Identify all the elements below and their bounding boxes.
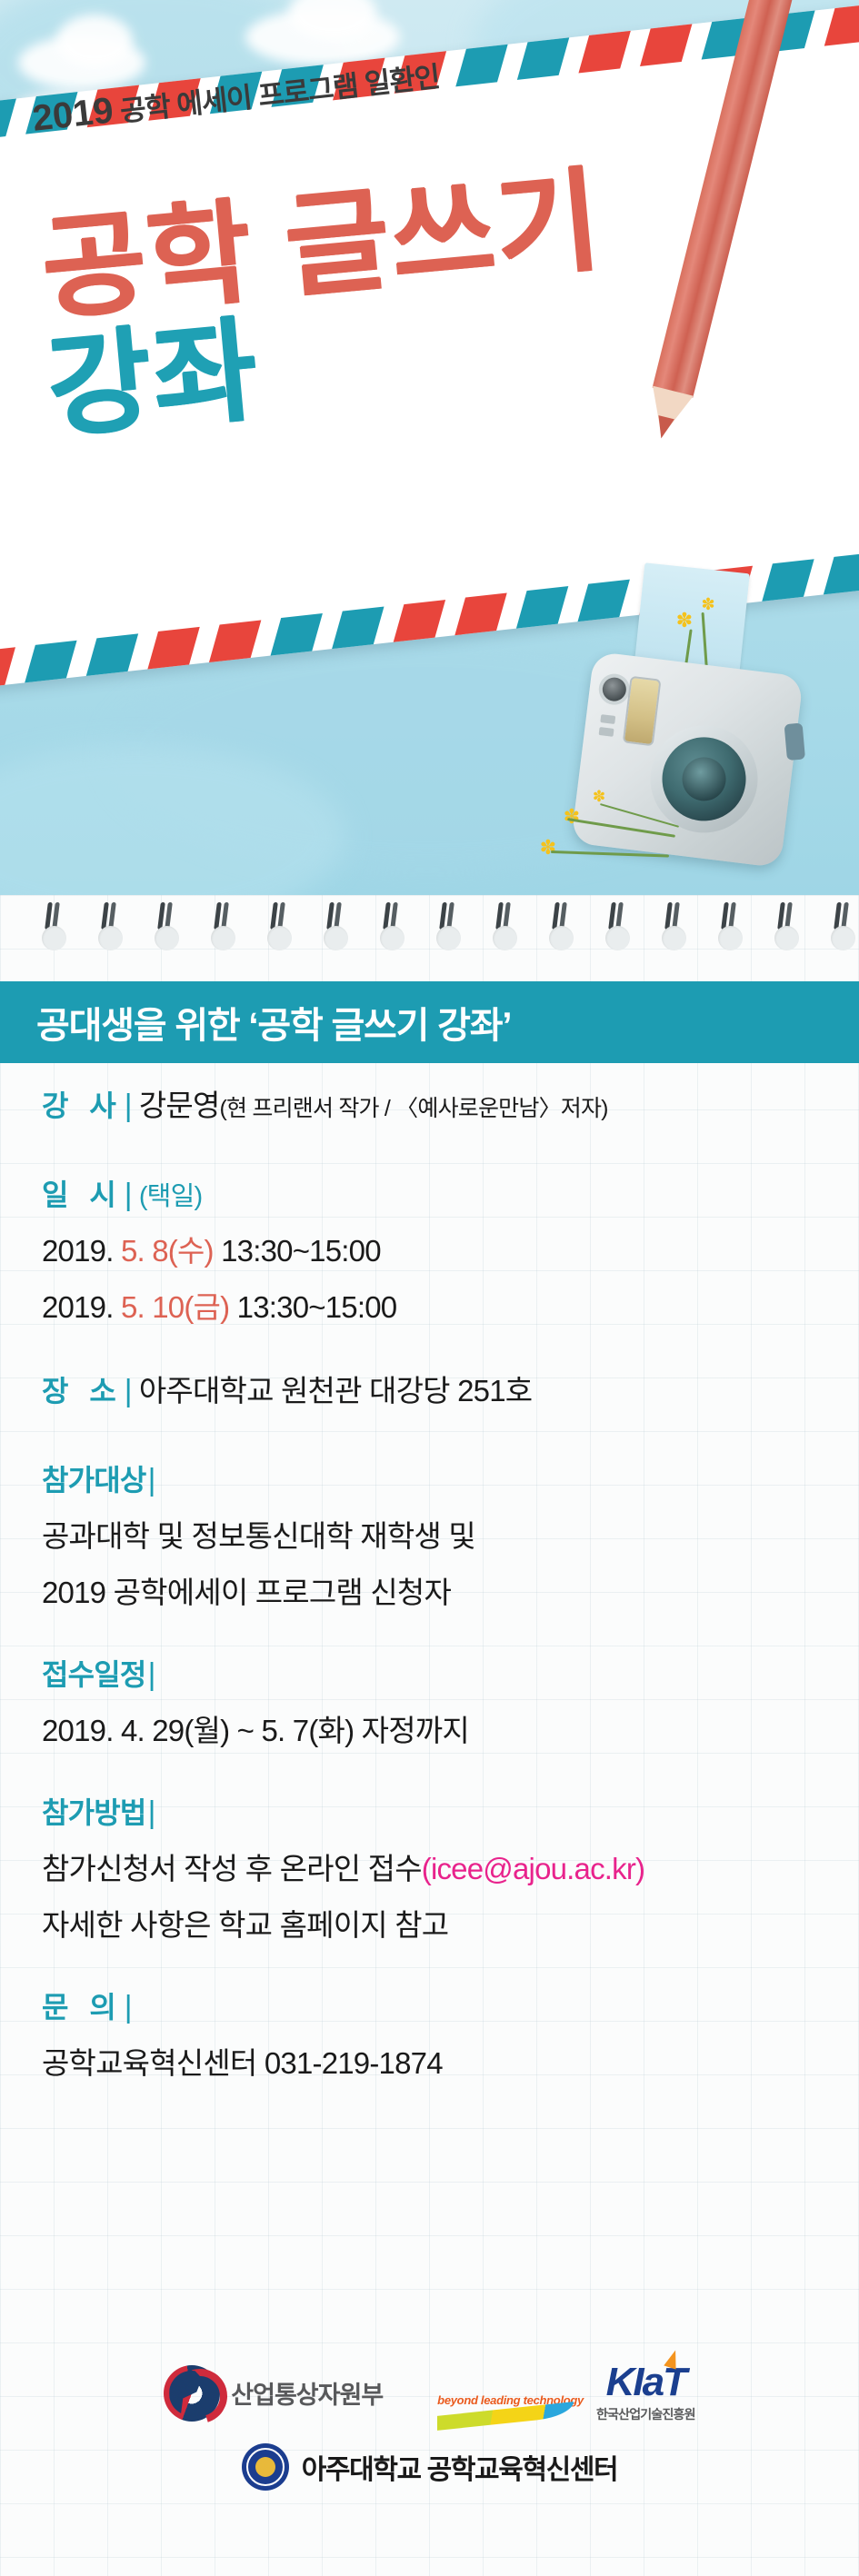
divider: | [148,1657,155,1692]
kiat-subtitle: 한국산업기술진흥원 [596,2405,695,2423]
divider: | [125,1374,132,1408]
divider: | [125,1178,132,1212]
cloud-icon [56,15,133,67]
place-label: 장 소 [42,1375,123,1407]
logo-ajou: 아주대학교 공학교육혁신센터 [0,2443,859,2491]
datetime-option-2: 2019. 5. 10(금) 13:30~15:00 [42,1283,859,1327]
datetime-note: (택일) [139,1182,202,1211]
method-line-1: 참가신청서 작성 후 온라인 접수 [42,1852,422,1885]
info-row-method: 참가방법| 참가신청서 작성 후 온라인 접수(icee@ajou.ac.kr)… [42,1790,859,1944]
divider: | [125,1089,132,1123]
contact-value: 공학교육혁신센터 031-219-1874 [42,2046,443,2080]
audience-line-1: 공과대학 및 정보통신대학 재학생 및 [42,1519,475,1553]
method-line-2: 자세한 사항은 학교 홈페이지 참고 [42,1908,448,1942]
divider: | [125,1990,132,2024]
page-title: 공대생을 위한 ‘공학 글쓰기 강좌’ [36,996,511,1049]
divider: | [148,1463,155,1497]
footer-logos: 산업통상자원부 beyond leading technology KIaT 한… [0,2362,859,2491]
datetime-year: 2019. [42,1290,121,1324]
flower-icon: ✽ [674,611,694,631]
motie-label: 산업통상자원부 [231,2375,383,2411]
flower-icon: ✽ [562,807,582,827]
ajou-label: 아주대학교 공학교육혁신센터 [302,2447,618,2487]
flower-icon: ✽ [698,594,718,614]
datetime-year: 2019. [42,1234,121,1268]
info-row-datetime: 일 시|(택일) 2019. 5. 8(수) 13:30~15:00 2019.… [42,1172,859,1327]
place-value: 아주대학교 원천관 대강당 251호 [139,1374,533,1407]
datetime-time: 13:30~15:00 [229,1290,396,1324]
info-list: 강 사|강문영(현 프리랜서 작가 / 〈예사로운만남〉저자) 일 시|(택일)… [0,1081,859,2083]
audience-label: 참가대상 [42,1464,146,1497]
datetime-date: 5. 8(수) [121,1234,214,1268]
instructor-detail: (현 프리랜서 작가 / 〈예사로운만남〉저자) [220,1096,608,1121]
flower-icon: ✽ [589,787,609,807]
instructor-label: 강 사 [42,1089,123,1122]
logo-kiat: beyond leading technology KIaT 한국산업기술진흥원 [437,2362,695,2423]
info-row-instructor: 강 사|강문영(현 프리랜서 작가 / 〈예사로운만남〉저자) [42,1081,859,1125]
datetime-option-1: 2019. 5. 8(수) 13:30~15:00 [42,1227,859,1270]
kicker-year: 2019 [31,90,115,138]
datetime-date: 5. 10(금) [121,1290,229,1324]
schedule-value: 2019. 4. 29(월) ~ 5. 7(화) 자정까지 [42,1714,469,1747]
info-row-schedule: 접수일정| 2019. 4. 29(월) ~ 5. 7(화) 자정까지 [42,1652,859,1750]
contact-label: 문 의 [42,1991,123,2024]
logo-motie: 산업통상자원부 [164,2365,383,2422]
method-email[interactable]: (icee@ajou.ac.kr) [422,1852,645,1885]
headline-line-2: 강좌 [40,277,265,459]
ajou-seal-icon [242,2443,289,2491]
instructor-name: 강문영 [139,1089,220,1122]
poster-header: 2019 공학 에세이 프로그램 일환인 공학 글쓰기 강좌 ✽ ✽ ✽ ✽ ✽ [0,0,859,895]
info-row-place: 장 소|아주대학교 원천관 대강당 251호 [42,1367,859,1410]
instant-camera-icon [571,651,804,869]
spiral-binding [0,895,859,977]
datetime-label: 일 시 [42,1179,123,1211]
poster: 2019 공학 에세이 프로그램 일환인 공학 글쓰기 강좌 ✽ ✽ ✽ ✽ ✽ [0,0,859,2576]
audience-line-2: 2019 공학에세이 프로그램 신청자 [42,1576,451,1609]
flower-icon: ✽ [538,838,558,858]
info-row-contact: 문 의| 공학교육혁신센터 031-219-1874 [42,1984,859,2083]
method-label: 참가방법 [42,1796,146,1829]
section-title-bar: 공대생을 위한 ‘공학 글쓰기 강좌’ [0,981,859,1063]
kiat-wordmark: KIaT [596,2362,695,2402]
taegeuk-logo-icon [164,2365,220,2422]
info-row-audience: 참가대상| 공과대학 및 정보통신대학 재학생 및 2019 공학에세이 프로그… [42,1457,859,1612]
divider: | [148,1795,155,1830]
schedule-label: 접수일정 [42,1658,146,1691]
datetime-time: 13:30~15:00 [214,1234,381,1268]
